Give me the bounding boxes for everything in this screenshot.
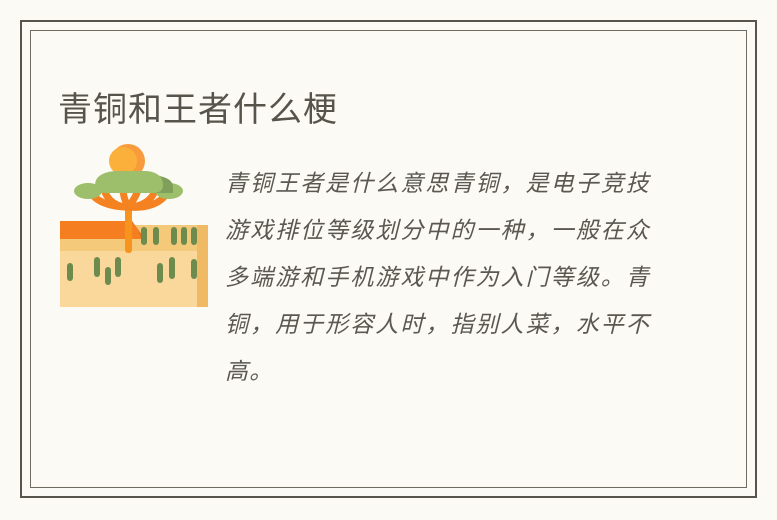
illustration-graphic: [57, 135, 211, 307]
page-root: 青铜和王者什么梗: [0, 0, 777, 520]
page-title: 青铜和王者什么梗: [58, 87, 338, 133]
article-content: 青铜和王者什么梗: [30, 30, 747, 488]
article-body-text: 青铜王者是什么意思青铜，是电子竞技游戏排位等级划分中的一种，一般在众多端游和手机…: [225, 161, 650, 396]
savanna-landscape-illustration: [57, 135, 211, 307]
